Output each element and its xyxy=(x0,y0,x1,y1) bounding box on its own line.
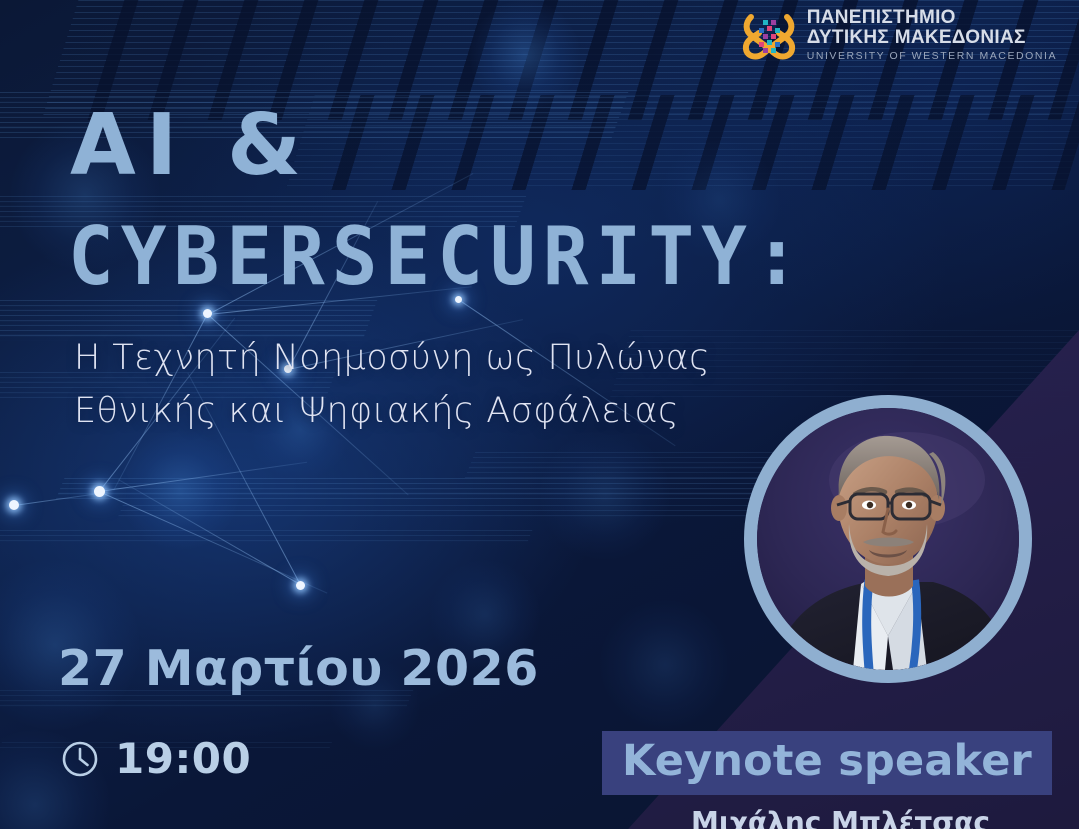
logo-line-2: ΔΥΤΙΚΗΣ ΜΑΚΕΔΟΝΙΑΣ xyxy=(807,28,1057,48)
title-line-2: CYBERSECURITY: xyxy=(68,212,807,301)
event-date: 27 Μαρτίου 2026 xyxy=(58,640,539,697)
subtitle-line-2: Εθνικής και Ψηφιακής Ασφάλειας xyxy=(74,385,710,438)
event-poster: ΠΑΝΕΠΙΣΤΗΜΙΟ ΔΥΤΙΚΗΣ ΜΑΚΕΔΟΝΙΑΣ UNIVERSI… xyxy=(0,0,1079,829)
logo-line-3: UNIVERSITY OF WESTERN MACEDONIA xyxy=(807,49,1057,64)
clock-icon xyxy=(60,739,100,779)
uowm-knot-icon xyxy=(741,8,797,64)
title-line-1: AI & xyxy=(70,100,311,192)
subtitle: Η Τεχνητή Νοημοσύνη ως Πυλώνας Εθνικής κ… xyxy=(74,332,710,438)
speaker-name: Μιχάλης Μπλέτσας xyxy=(602,806,1079,829)
event-time: 19:00 xyxy=(115,738,251,780)
event-time-row: 19:00 xyxy=(60,738,251,780)
logo-line-1: ΠΑΝΕΠΙΣΤΗΜΙΟ xyxy=(807,8,1057,28)
speaker-portrait xyxy=(757,408,1019,670)
keynote-speaker-banner: Keynote speaker xyxy=(602,731,1052,795)
keynote-speaker-label: Keynote speaker xyxy=(622,736,1032,786)
subtitle-line-1: Η Τεχνητή Νοημοσύνη ως Πυλώνας xyxy=(74,332,710,385)
university-logo: ΠΑΝΕΠΙΣΤΗΜΙΟ ΔΥΤΙΚΗΣ ΜΑΚΕΔΟΝΙΑΣ UNIVERSI… xyxy=(741,8,1057,64)
speaker-photo-frame xyxy=(744,395,1032,683)
